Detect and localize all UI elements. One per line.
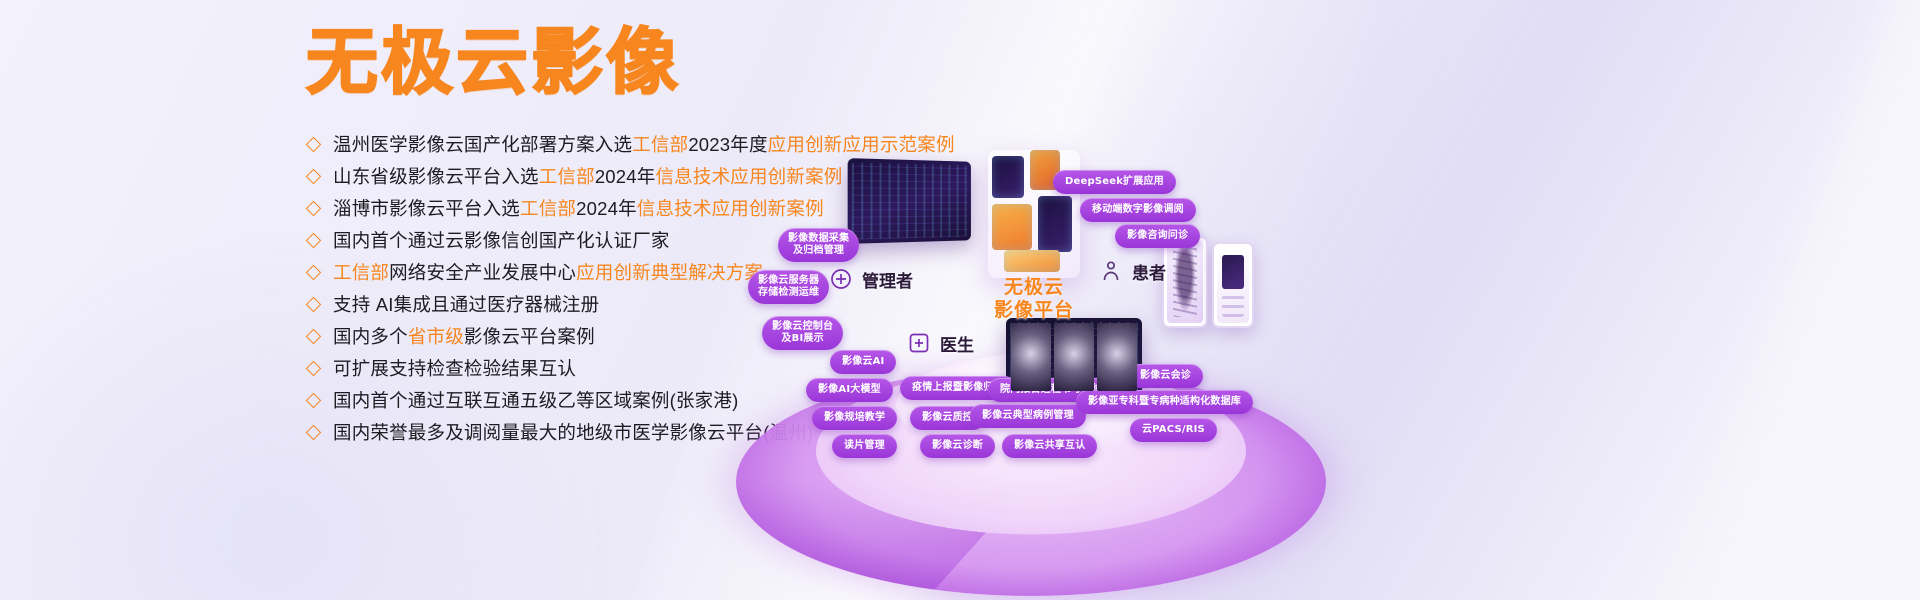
capability-pill-rarecase[interactable]: 影像亚专科暨专病种适构化数据库 [1076,390,1253,414]
diamond-outline-icon [306,200,322,216]
bullet-text-plain: 可扩展支持检查检验结果互认 [333,358,576,379]
mri-slice [1011,323,1051,391]
building-pane [992,204,1032,250]
mri-slice [1097,323,1137,391]
bullet-item-text: 工信部网络安全产业发展中心应用创新典型解决方案 [333,259,763,285]
bullet-text-plain: 淄博市影像云平台入选 [333,198,520,219]
bullet-text-highlight: 工信部 [632,134,688,155]
diamond-outline-icon [306,392,322,408]
building-pane [992,156,1024,198]
bullet-text-highlight: 工信部 [520,198,576,219]
capability-pill-collect[interactable]: 影像数据采集 及归档管理 [778,228,859,262]
person-icon [1098,258,1124,284]
capability-pill-cloudai[interactable]: 影像云AI [830,350,896,374]
capability-pill-typicalcase[interactable]: 影像云典型病例管理 [970,404,1086,428]
diamond-outline-icon [306,264,322,280]
role-doctor-label: 医生 [940,331,974,356]
role-patient-label: 患者 [1132,259,1166,284]
role-doctor[interactable]: 医生 [906,330,974,356]
hospital-cross-circle-icon [828,266,854,292]
platform-center-label: 无极云 影像平台 [968,276,1100,322]
role-patient[interactable]: 患者 [1098,258,1166,284]
mri-viewer-screen [1006,318,1142,396]
diamond-outline-icon [306,424,322,440]
banner-root: 无极云影像 温州医学影像云国产化部署方案入选工信部2023年度应用创新应用示范案… [0,0,1920,600]
phone-screen [1217,247,1249,323]
bullet-text-plain: 2024年 [576,198,637,219]
capability-pill-readmgmt[interactable]: 读片管理 [832,434,897,458]
center-label-line-2: 影像平台 [968,299,1100,322]
bullet-text-highlight: 工信部 [333,262,389,283]
capability-pill-meeting[interactable]: 影像云会诊 [1128,364,1203,388]
building-pane [1004,250,1060,272]
role-admin[interactable]: 管理者 [828,266,913,292]
bullet-text-plain: 影像云平台案例 [464,326,595,347]
bullet-item-text: 国内首个通过互联互通五级乙等区域案例(张家港) [333,387,738,413]
bullet-text-plain: 支持 AI集成且通过医疗器械注册 [333,294,599,315]
bullet-text-plain: 国内首个通过互联互通五级乙等区域案例(张家港) [333,390,738,411]
platform-architecture-diagram: 无极云 影像平台 管理者 医生 [720,128,1340,488]
bullet-item-text: 国内首个通过云影像信创国产化认证厂家 [333,227,670,253]
capability-pill-bigmodel[interactable]: 影像AI大模型 [806,378,893,402]
doctor-badge-icon [906,330,932,356]
dashboard-screen [848,158,971,244]
bullet-text-plain: 国内首个通过云影像信创国产化认证厂家 [333,230,670,251]
bullet-text-plain: 2024年 [595,166,656,187]
bullet-item-text: 支持 AI集成且通过医疗器械注册 [333,291,599,317]
bullet-item-text: 国内多个省市级影像云平台案例 [333,323,595,349]
phone-screen [1167,241,1203,323]
capability-pill-teaching[interactable]: 影像规培教学 [812,406,897,430]
building-pane [1038,196,1072,252]
capability-pill-consult[interactable]: 影像咨询问诊 [1115,224,1200,248]
page-title: 无极云影像 [306,26,681,98]
diamond-outline-icon [306,232,322,248]
diamond-outline-icon [306,360,322,376]
bullet-text-plain: 国内多个 [333,326,408,347]
bullet-item-text: 可扩展支持检查检验结果互认 [333,355,576,381]
capability-pill-server[interactable]: 影像云服务器 存储检测运维 [748,270,829,304]
capability-pill-diagnose[interactable]: 影像云诊断 [920,434,995,458]
role-admin-label: 管理者 [862,267,913,292]
capability-pill-mobile[interactable]: 移动端数字影像调阅 [1080,198,1196,222]
patient-phone-xray [1162,236,1208,328]
bullet-text-plain: 山东省级影像云平台入选 [333,166,539,187]
bullet-text-highlight: 省市级 [408,326,464,347]
capability-pill-console[interactable]: 影像云控制台 及BI展示 [762,316,843,350]
bullet-text-plain: 温州医学影像云国产化部署方案入选 [333,134,632,155]
diamond-outline-icon [306,136,322,152]
center-label-line-1: 无极云 [968,276,1100,299]
xray-image [1173,247,1197,317]
diamond-outline-icon [306,328,322,344]
mri-image-grid [1011,323,1137,391]
bullet-text-plain: 网络安全产业发展中心 [389,262,576,283]
patient-phone-report [1212,242,1254,328]
capability-pill-pacs[interactable]: 云PACS/RIS [1130,418,1217,442]
bullet-text-highlight: 工信部 [539,166,595,187]
diamond-outline-icon [306,296,322,312]
capability-pill-deepseek[interactable]: DeepSeek扩展应用 [1053,170,1176,194]
mri-slice [1054,323,1094,391]
diamond-outline-icon [306,168,322,184]
capability-pill-share[interactable]: 影像云共享互认 [1002,434,1097,458]
